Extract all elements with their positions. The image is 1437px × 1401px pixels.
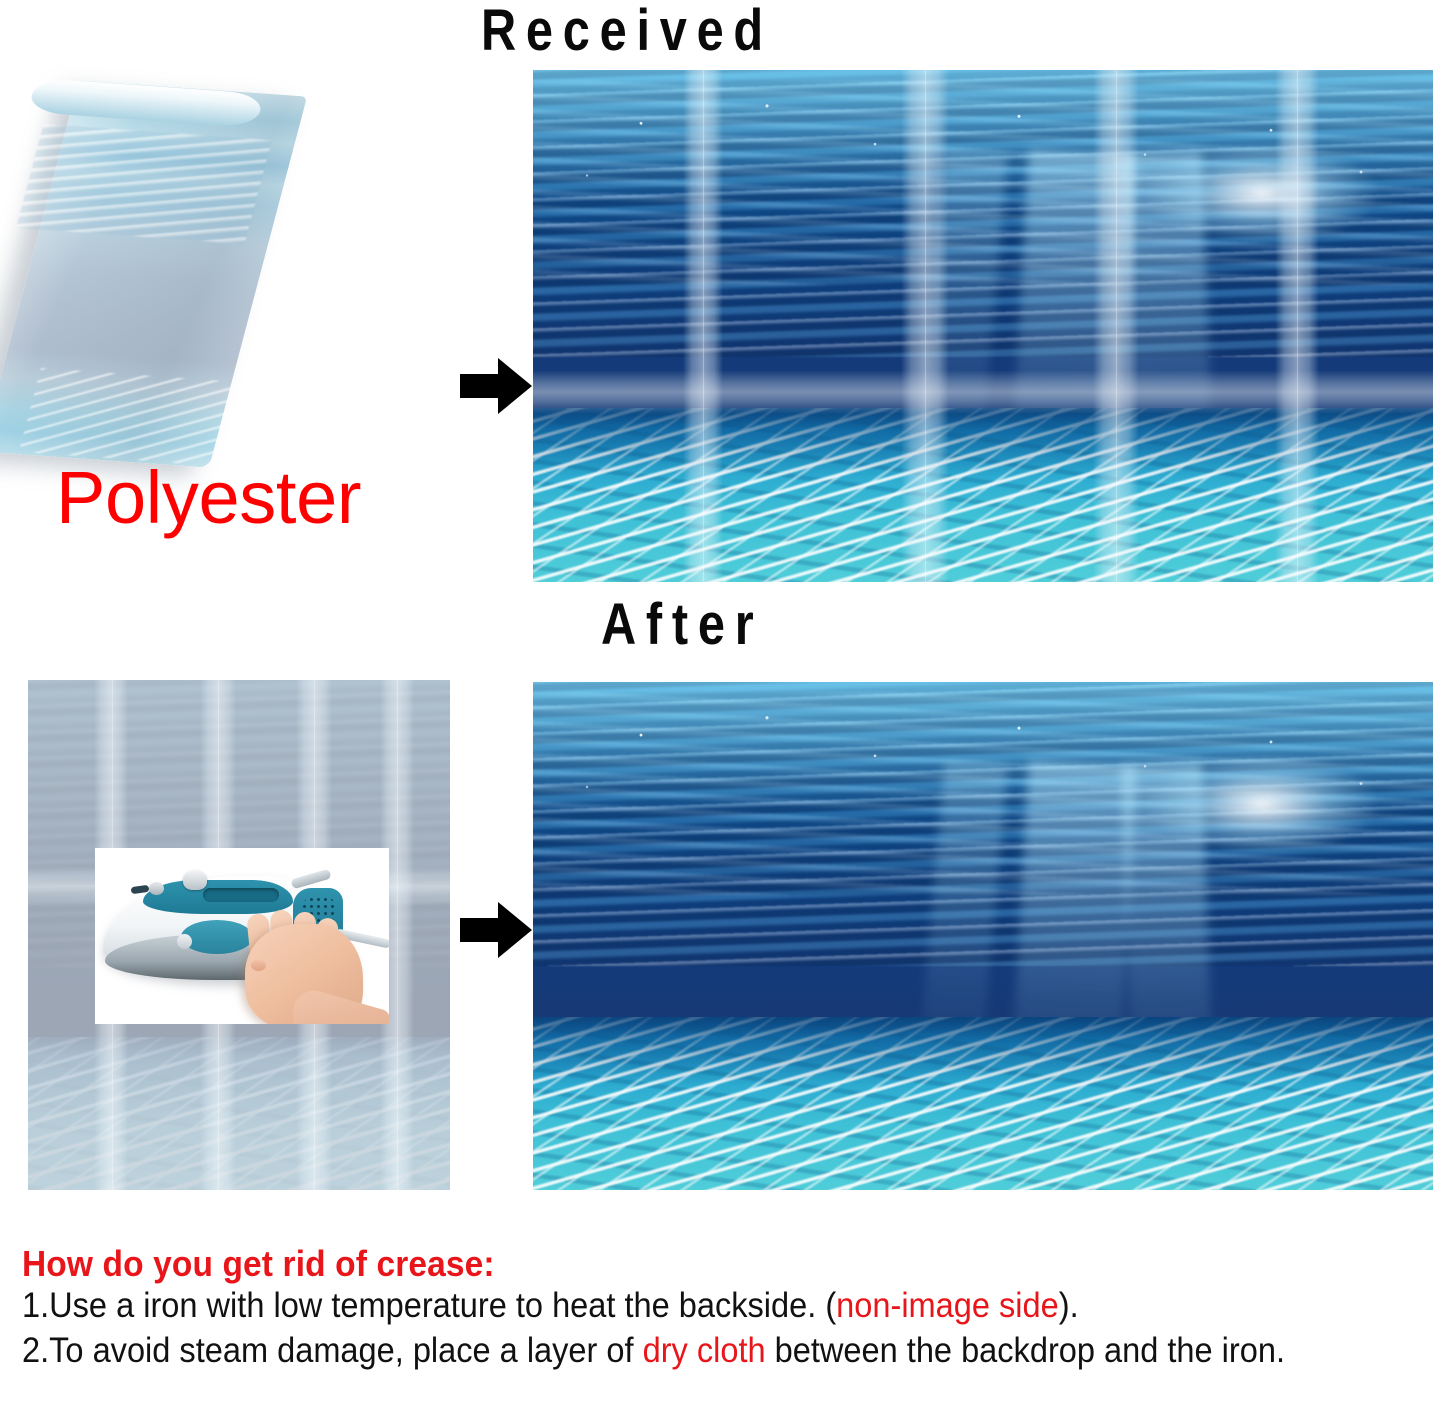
seabed-shading <box>533 1017 1433 1190</box>
iron-spray-button <box>177 934 192 949</box>
step1-suffix: ). <box>1059 1286 1079 1325</box>
step1-highlight: non-image side <box>836 1286 1059 1325</box>
iron-dial <box>149 882 164 895</box>
step2-prefix: 2.To avoid steam damage, place a layer o… <box>22 1331 643 1370</box>
arrow-head <box>498 358 532 414</box>
seabed <box>533 408 1433 582</box>
iron-vent <box>203 888 279 902</box>
swatch-caustic-band <box>19 368 269 468</box>
iron-steam-knob <box>183 870 207 890</box>
instructions-question: How do you get rid of crease: <box>22 1243 1324 1284</box>
step2-highlight: dry cloth <box>643 1331 766 1370</box>
received-backdrop-image <box>533 70 1433 582</box>
polyester-swatch-image <box>20 88 420 488</box>
step2-suffix: between the backdrop and the iron. <box>766 1331 1285 1370</box>
seabed-shading <box>533 408 1433 582</box>
swatch-ripple-band <box>16 124 272 244</box>
fingernail <box>251 960 266 971</box>
heading-after: After <box>601 596 763 654</box>
arrow-head <box>498 902 532 958</box>
step1-prefix: 1.Use a iron with low temperature to hea… <box>22 1286 836 1325</box>
instruction-step-1: 1.Use a iron with low temperature to hea… <box>22 1284 1324 1329</box>
iron-photo <box>95 848 389 1024</box>
heading-received: Received <box>481 2 773 60</box>
instruction-step-2: 2.To avoid steam damage, place a layer o… <box>22 1329 1324 1374</box>
after-backdrop-image <box>533 682 1433 1190</box>
seabed <box>533 1017 1433 1190</box>
polyester-label: Polyester <box>56 461 361 535</box>
arrow-right-icon <box>460 902 532 958</box>
instructions-block: How do you get rid of crease: 1.Use a ir… <box>22 1243 1422 1374</box>
iron-water-tank <box>181 920 253 954</box>
arrow-right-icon <box>460 358 532 414</box>
iron-clip <box>290 869 331 890</box>
